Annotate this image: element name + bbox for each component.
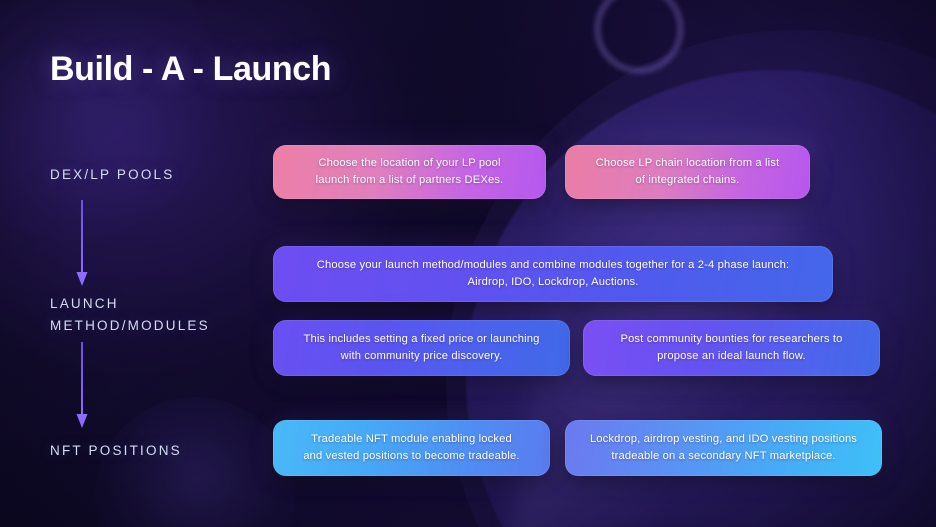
card-launch-method-modules: Choose your launch method/modules and co…: [273, 246, 833, 302]
card-fixed-price-discovery: This includes setting a fixed price or l…: [273, 320, 570, 376]
background-ring-icon: [594, 0, 684, 74]
card-text-line: and vested positions to become tradeable…: [303, 448, 519, 465]
card-community-bounties: Post community bounties for researchers …: [583, 320, 880, 376]
card-text-line: propose an ideal launch flow.: [620, 348, 842, 365]
flow-arrow-down-icon-1: [75, 200, 89, 286]
slide-canvas: Build - A - Launch DEX/LP POOLS LAUNCH M…: [0, 0, 936, 527]
card-text-line: tradeable on a secondary NFT marketplace…: [590, 448, 857, 465]
stage-label-nft-positions: NFT POSITIONS: [50, 440, 182, 462]
card-tradeable-nft-module: Tradeable NFT module enabling locked and…: [273, 420, 550, 476]
card-text-line: Choose the location of your LP pool: [316, 155, 504, 172]
card-text-line: Choose LP chain location from a list: [596, 155, 780, 172]
page-title: Build - A - Launch: [50, 50, 331, 89]
card-text-line: launch from a list of partners DEXes.: [316, 172, 504, 189]
card-text-line: Choose your launch method/modules and co…: [317, 257, 790, 274]
card-nft-vesting-marketplace: Lockdrop, airdrop vesting, and IDO vesti…: [565, 420, 882, 476]
card-text-line: Post community bounties for researchers …: [620, 331, 842, 348]
flow-arrow-down-icon-2: [75, 342, 89, 428]
card-lp-chain-location: Choose LP chain location from a list of …: [565, 145, 810, 199]
card-text-line: This includes setting a fixed price or l…: [303, 331, 539, 348]
card-text-line: Lockdrop, airdrop vesting, and IDO vesti…: [590, 431, 857, 448]
stage-label-dex-lp-pools: DEX/LP POOLS: [50, 164, 174, 186]
card-text-line: with community price discovery.: [303, 348, 539, 365]
card-text-line: Tradeable NFT module enabling locked: [303, 431, 519, 448]
card-dex-pool-location: Choose the location of your LP pool laun…: [273, 145, 546, 199]
background-blob-bottom-left: [95, 397, 295, 527]
stage-label-launch-method-modules: LAUNCH METHOD/MODULES: [50, 293, 210, 337]
background-blob-top-left: [0, 0, 220, 240]
card-text-line: Airdrop, IDO, Lockdrop, Auctions.: [317, 274, 790, 291]
card-text-line: of integrated chains.: [596, 172, 780, 189]
